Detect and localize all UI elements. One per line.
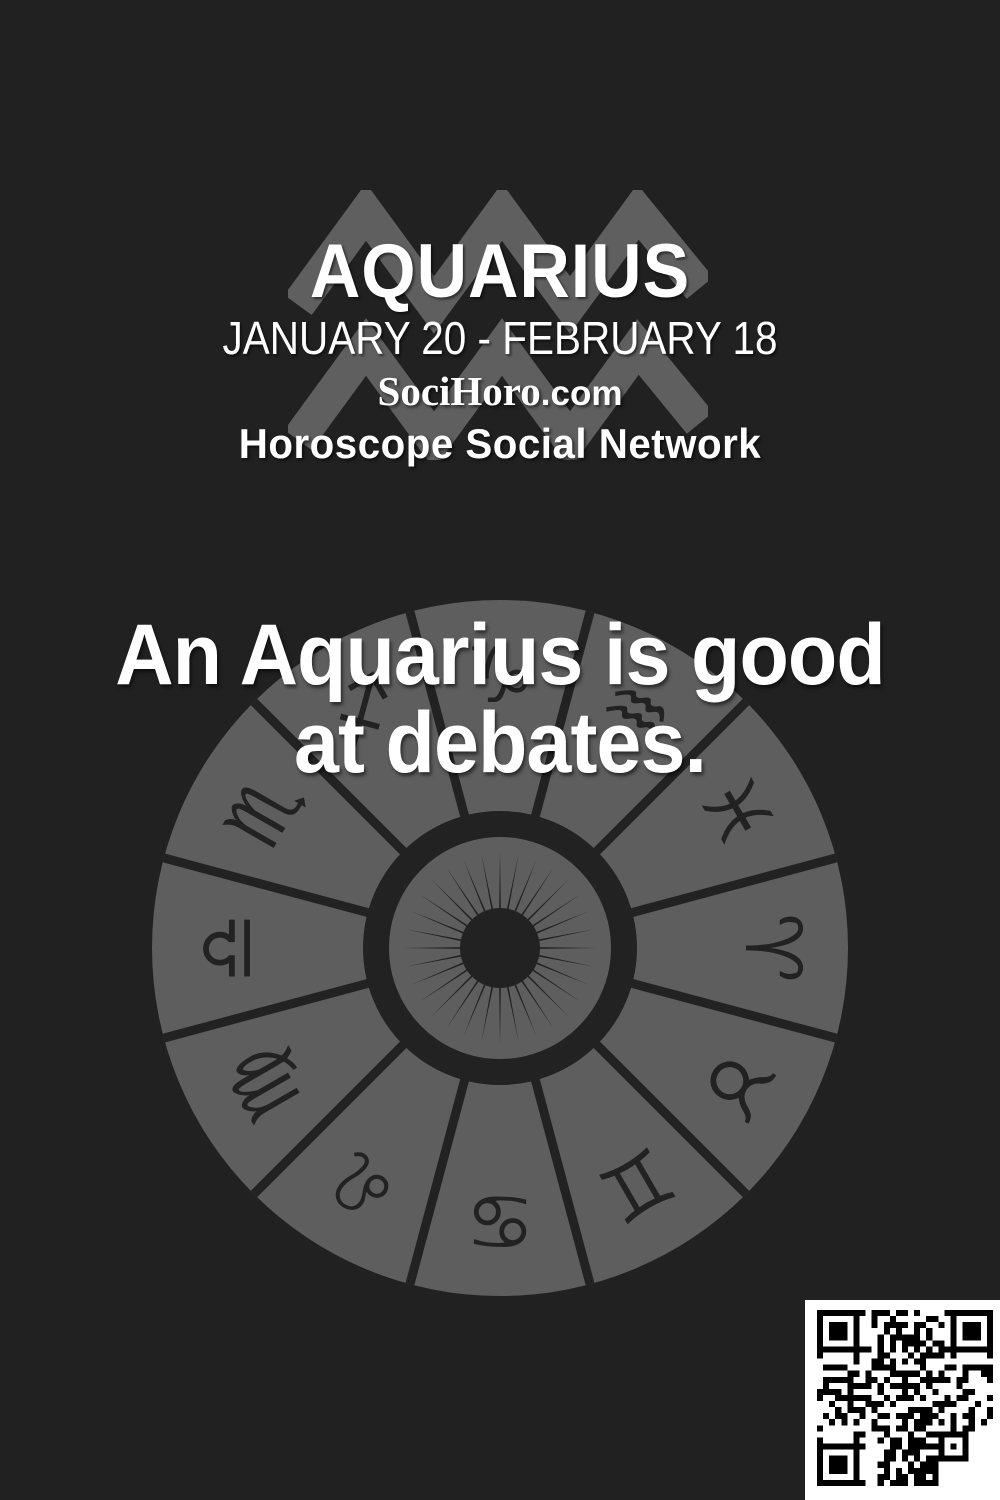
brand-wordmark[interactable]: SociHoro.com — [0, 370, 1000, 413]
zodiac-symbol-cancer: ♋ — [465, 1175, 535, 1265]
page-title: AQUARIUS — [40, 236, 960, 309]
date-range-label: JANUARY 20 - FEBRUARY 18 — [60, 313, 940, 365]
horoscope-poster: ♈♉♊♋♌♍♎♏♐♑♒♓ AQUARIUS JANUARY 20 - FEBRU… — [0, 0, 1000, 1500]
zodiac-symbol-aries: ♈ — [727, 913, 817, 983]
quote-text: An Aquarius is good at debates. — [86, 612, 913, 787]
header-block: AQUARIUS JANUARY 20 - FEBRUARY 18 SociHo… — [0, 236, 1000, 468]
tagline-label: Horoscope Social Network — [20, 420, 980, 468]
brand-tld: .com — [541, 374, 623, 413]
brand-name: SociHoro — [378, 368, 541, 414]
qr-code[interactable] — [805, 1300, 1000, 1500]
zodiac-symbol-libra: ♎ — [183, 913, 273, 983]
